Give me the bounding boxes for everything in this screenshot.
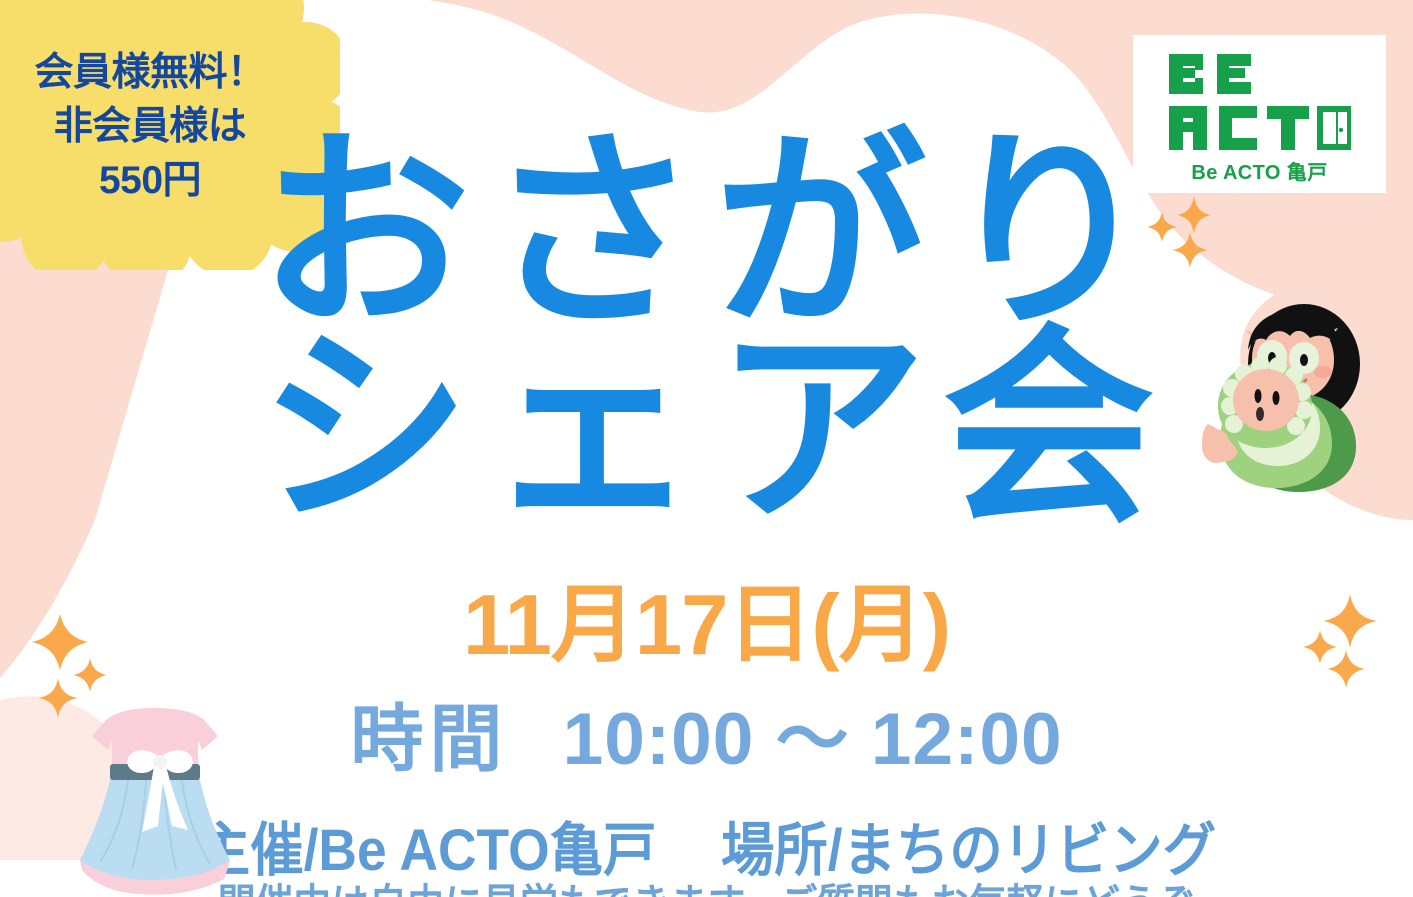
sparkle-cluster-left bbox=[26, 606, 146, 726]
time-value: 10:00 〜 12:00 bbox=[563, 699, 1063, 780]
childrens-dress-illustration bbox=[62, 708, 277, 897]
venue-text: 場所/まちのリビング bbox=[721, 818, 1216, 883]
sparkle-cluster-logo bbox=[1138, 196, 1248, 276]
sparkle-cluster-right bbox=[1292, 588, 1402, 698]
time-label: 時間 bbox=[350, 699, 508, 780]
event-date: 11月17日(月) bbox=[0, 583, 1413, 668]
mother-holding-baby-illustration bbox=[1186, 296, 1386, 506]
poster-canvas: 会員様無料！ 非会員様は 550円 bbox=[0, 0, 1413, 897]
badge-line-1: 会員様無料！ bbox=[34, 48, 265, 98]
